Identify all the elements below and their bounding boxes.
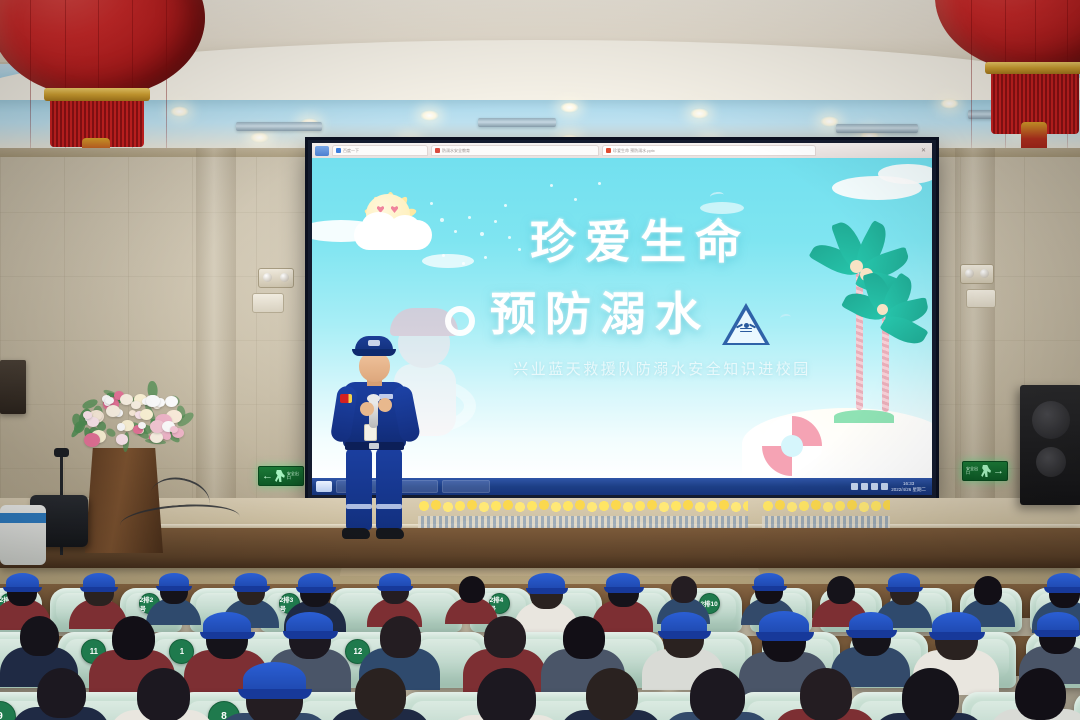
exit-sign-left: ← 安全出口 [258, 466, 304, 486]
lantern-left [0, 0, 205, 168]
cap-brim [604, 587, 644, 593]
browser-tab-2[interactable]: 防溺水安全教育 [431, 145, 599, 156]
student-head [112, 616, 155, 660]
sparkle-3 [468, 216, 471, 219]
downlight-6 [690, 108, 709, 119]
running-person-icon [275, 470, 285, 482]
sparkle-11 [430, 202, 433, 205]
air-vent-1 [236, 122, 322, 131]
student-head [380, 616, 421, 658]
exit-sign-right: 安全出口 → [962, 461, 1008, 481]
student-head [477, 668, 536, 720]
flower [170, 426, 178, 433]
sparkle-5 [494, 220, 497, 223]
browser-tab-bar[interactable]: 百度一下 防溺水安全教育 珍爱生命 预防溺水.pptx ✕ [312, 143, 932, 158]
cloud-4 [422, 254, 474, 268]
bird-icon-1 [710, 191, 725, 201]
cap-brim [238, 689, 312, 699]
student-head [20, 616, 59, 656]
flower-arrangement [68, 385, 186, 457]
clock-date: 2022/4/26 星期二 [891, 487, 926, 492]
sparkle-10 [518, 248, 521, 251]
cloud-5 [700, 202, 744, 214]
system-tray[interactable]: 16:33 2022/4/26 星期二 [851, 481, 928, 492]
air-vent-3 [836, 124, 918, 133]
student-head [690, 668, 745, 720]
cap-brim [156, 586, 191, 591]
slide-title-line-1: 珍爱生命 [530, 218, 820, 267]
sun-character-icon [354, 186, 426, 252]
emergency-light-right [960, 264, 994, 284]
cap-brim [1034, 630, 1080, 637]
exit-label-left: 安全出口 [287, 472, 300, 480]
sparkle-13 [550, 184, 553, 187]
plant-pots-right [762, 516, 890, 528]
flower [138, 422, 146, 429]
foliage [105, 427, 117, 438]
sparkle-7 [442, 254, 445, 257]
tab-title-3: 珍爱生命 预防溺水.pptx [613, 148, 655, 154]
sparkle-9 [484, 256, 487, 259]
sparkle-1 [440, 218, 444, 222]
decorative-ring [445, 306, 475, 336]
slide-title-line-2: 预防溺水 [490, 290, 850, 339]
presenter-face [359, 352, 390, 382]
student-head [902, 668, 959, 720]
cap-brim [756, 632, 814, 640]
student-head [827, 576, 855, 604]
flower [163, 432, 171, 439]
student-head [137, 668, 190, 720]
air-vent-2 [478, 118, 556, 127]
cap-brim [283, 631, 338, 639]
cloud-3 [878, 164, 932, 184]
microphone-icon [54, 448, 69, 457]
student-head [671, 576, 697, 603]
exit-arrow-left-icon: ← [262, 471, 273, 482]
sparkle-2 [454, 230, 457, 233]
flower [131, 401, 141, 410]
tab-favicon-3 [606, 148, 611, 153]
drowning-warning-icon [722, 303, 770, 345]
sparkle-8 [462, 262, 465, 265]
student-head [37, 668, 86, 718]
student-head [800, 668, 852, 720]
student-head [563, 616, 605, 659]
tab-favicon-1 [336, 148, 341, 153]
battery-icon[interactable] [881, 483, 888, 490]
tab-title-2: 防溺水安全教育 [442, 148, 470, 154]
cap-brim [752, 586, 787, 591]
exit-label-right: 安全出口 [966, 467, 979, 475]
volume-icon[interactable] [851, 483, 858, 490]
flower [146, 395, 160, 407]
clock-time: 16:33 [903, 481, 914, 486]
cap-brim [233, 586, 270, 591]
running-person-icon-right [981, 465, 991, 477]
auditorium-photo: ← 安全出口 安全出口 → 百度一下 防溺水安全教育 珍爱生命 预防溺水.ppt… [0, 0, 1080, 720]
presenter [326, 336, 422, 542]
student-head [1015, 668, 1066, 720]
sparkle-6 [508, 236, 511, 239]
browser-tab-3[interactable]: 珍爱生命 预防溺水.pptx [602, 145, 816, 156]
flower [84, 433, 100, 447]
cap-brim [296, 587, 336, 593]
exit-arrow-right-icon: → [993, 466, 1004, 477]
flower [140, 409, 153, 420]
flower [117, 423, 126, 430]
audience-seating: 2排1号2排2号2排3号2排4号2排101111298 [0, 540, 1080, 720]
sparkle-4 [480, 232, 484, 236]
lifebuoy-hole [781, 435, 803, 457]
student-head [484, 616, 526, 658]
wall-speaker-left [0, 360, 26, 414]
cap-brim [200, 632, 255, 640]
student-head [459, 576, 486, 603]
cap-brim [886, 587, 923, 592]
sparkle-14 [574, 198, 577, 201]
student-head [586, 668, 638, 720]
downlight-9 [250, 132, 269, 143]
wall-control-box-right[interactable] [966, 289, 996, 308]
emergency-light-left [258, 268, 294, 288]
student-head [355, 668, 407, 720]
browser-tab-1[interactable]: 百度一下 [332, 145, 428, 156]
cap-brim [377, 586, 413, 591]
cap-brim [3, 587, 41, 592]
sparkle-15 [598, 182, 601, 185]
browser-menu-button[interactable] [315, 146, 329, 156]
cap-brim [1044, 587, 1080, 593]
flag-patch-icon [340, 394, 352, 403]
student-head [974, 576, 1002, 605]
flower [150, 432, 163, 443]
ime-icon[interactable] [871, 483, 878, 490]
tab-favicon-2 [435, 148, 440, 153]
flower [105, 397, 113, 404]
downlight-5 [560, 102, 579, 113]
taskbar-item-3[interactable] [442, 480, 490, 493]
cap-brim [80, 587, 118, 592]
cap-brim [846, 630, 897, 637]
close-icon[interactable]: ✕ [921, 147, 929, 154]
slide-subtitle: 兴业蓝天救援队防溺水安全知识进校园 [462, 358, 862, 379]
taskbar-clock[interactable]: 16:33 2022/4/26 星期二 [891, 481, 926, 492]
palm-tree-front [844, 268, 932, 428]
sparkle-12 [504, 204, 507, 207]
cap-brim [526, 588, 568, 594]
plant-pots-left [418, 516, 748, 528]
network-icon[interactable] [861, 483, 868, 490]
cap-brim [658, 631, 711, 639]
lantern-right [935, 0, 1080, 162]
downlight-4 [420, 110, 439, 121]
flower [106, 405, 120, 417]
wall-control-box-left[interactable] [252, 293, 284, 313]
cap-brim [929, 632, 985, 640]
pa-speaker-right [1020, 385, 1080, 505]
tab-title-1: 百度一下 [343, 148, 359, 154]
